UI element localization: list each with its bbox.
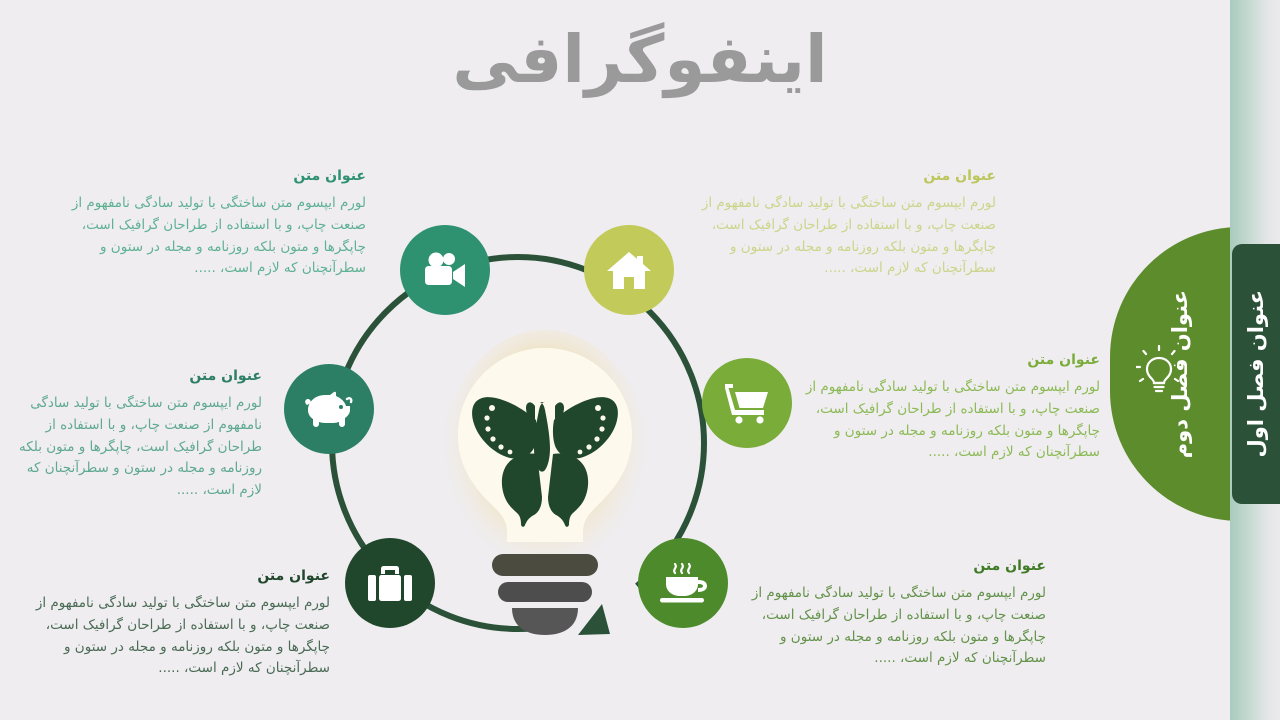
text-block-home: عنوان متن لورم ایپسوم متن ساختگی با تولی…	[700, 168, 996, 280]
bulb-base-tip	[512, 608, 578, 635]
node-shopping-cart[interactable]	[702, 358, 792, 448]
text-block-home-body: لورم ایپسوم متن ساختگی با تولید سادگی نا…	[700, 193, 996, 280]
video-camera-icon	[422, 252, 468, 288]
infographic-slide: عنوان فصل دوم عنوان فصل اول اینفوگرافی	[0, 0, 1280, 720]
briefcase-icon	[368, 564, 412, 602]
page-title: اینفوگرافی	[0, 24, 1280, 97]
text-block-briefcase-body: لورم ایپسوم متن ساختگی با تولید سادگی نا…	[0, 593, 330, 680]
node-video[interactable]	[400, 225, 490, 315]
text-block-briefcase: عنوان متن لورم ایپسوم متن ساختگی با تولی…	[0, 568, 330, 680]
chapter-tab-first-label: عنوان فصل اول	[1244, 290, 1268, 458]
text-block-piggy-bank-body: لورم ایپسوم متن ساختگی با تولید سادگی نا…	[0, 393, 262, 502]
text-block-coffee-heading: عنوان متن	[750, 558, 1046, 575]
chapter-tab-second-label: عنوان فصل دوم	[1168, 290, 1192, 458]
text-block-cart-body: لورم ایپسوم متن ساختگی با تولید سادگی نا…	[800, 377, 1100, 464]
node-piggy-bank[interactable]	[284, 364, 374, 454]
center-lightbulb	[440, 330, 650, 635]
text-block-cart: عنوان متن لورم ایپسوم متن ساختگی با تولی…	[800, 352, 1100, 464]
text-block-video: عنوان متن لورم ایپسوم متن ساختگی با تولی…	[70, 168, 366, 280]
node-briefcase[interactable]	[345, 538, 435, 628]
node-coffee[interactable]	[638, 538, 728, 628]
chapter-tab-first[interactable]: عنوان فصل اول	[1232, 244, 1280, 504]
shopping-cart-icon	[724, 382, 770, 424]
text-block-video-heading: عنوان متن	[70, 168, 366, 185]
text-block-coffee-body: لورم ایپسوم متن ساختگی با تولید سادگی نا…	[750, 583, 1046, 670]
text-block-coffee: عنوان متن لورم ایپسوم متن ساختگی با تولی…	[750, 558, 1046, 670]
text-block-home-heading: عنوان متن	[700, 168, 996, 185]
home-icon	[607, 250, 651, 290]
text-block-piggy-bank-heading: عنوان متن	[0, 368, 262, 385]
chapter-tab-second[interactable]: عنوان فصل دوم	[1110, 227, 1240, 521]
text-block-cart-heading: عنوان متن	[800, 352, 1100, 369]
bulb-base-ring-2	[498, 582, 592, 602]
coffee-cup-icon	[658, 562, 708, 604]
text-block-piggy-bank: عنوان متن لورم ایپسوم متن ساختگی با تولی…	[0, 368, 262, 502]
lightbulb-icon	[1136, 345, 1182, 403]
text-block-briefcase-heading: عنوان متن	[0, 568, 330, 585]
bulb-base-ring-1	[492, 554, 598, 576]
piggy-bank-icon	[305, 391, 353, 427]
text-block-video-body: لورم ایپسوم متن ساختگی با تولید سادگی نا…	[70, 193, 366, 280]
node-home[interactable]	[584, 225, 674, 315]
